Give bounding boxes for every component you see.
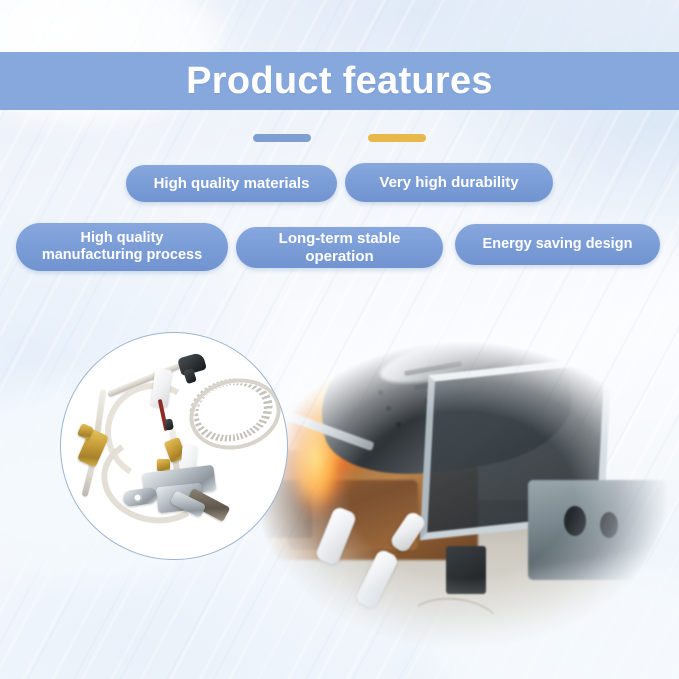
- divider-row: [0, 133, 679, 145]
- divider-dash-blue: [253, 134, 311, 142]
- feature-pill-text: Long-term stable operation: [236, 230, 443, 265]
- product-photo-composite: [0, 300, 679, 679]
- burner-plate-hole: [600, 512, 618, 538]
- page-title: Product features: [186, 62, 493, 100]
- feature-pill-text: High quality materials: [140, 175, 324, 192]
- heat-shield-hole: [378, 390, 383, 395]
- feature-pill: High quality materials: [126, 165, 337, 202]
- product-inset-circle: [60, 332, 288, 560]
- divider-dash-amber: [368, 134, 426, 142]
- feature-pill-text: High quality manufacturing process: [28, 230, 216, 264]
- feature-pill-text: Energy saving design: [469, 236, 647, 253]
- heat-shield-hole: [396, 422, 401, 427]
- title-banner: Product features: [0, 52, 679, 110]
- infographic-canvas: Product features High quality materials …: [0, 0, 679, 679]
- burner-plate-hole: [564, 506, 586, 536]
- burner-plate: [528, 480, 668, 580]
- pilot-burner-assembly: [61, 333, 287, 559]
- heat-shield-hole: [386, 406, 391, 411]
- igniter-cap: [446, 546, 486, 594]
- wire-terminal: [164, 418, 174, 430]
- mounting-hole: [133, 493, 142, 502]
- feature-pill: Energy saving design: [455, 224, 660, 265]
- feature-pill: Long-term stable operation: [236, 227, 443, 268]
- feature-pill: Very high durability: [345, 163, 553, 202]
- feature-pill-text: Very high durability: [365, 174, 532, 191]
- feature-pill: High quality manufacturing process: [16, 223, 228, 271]
- gas-burner-scene: [228, 330, 679, 660]
